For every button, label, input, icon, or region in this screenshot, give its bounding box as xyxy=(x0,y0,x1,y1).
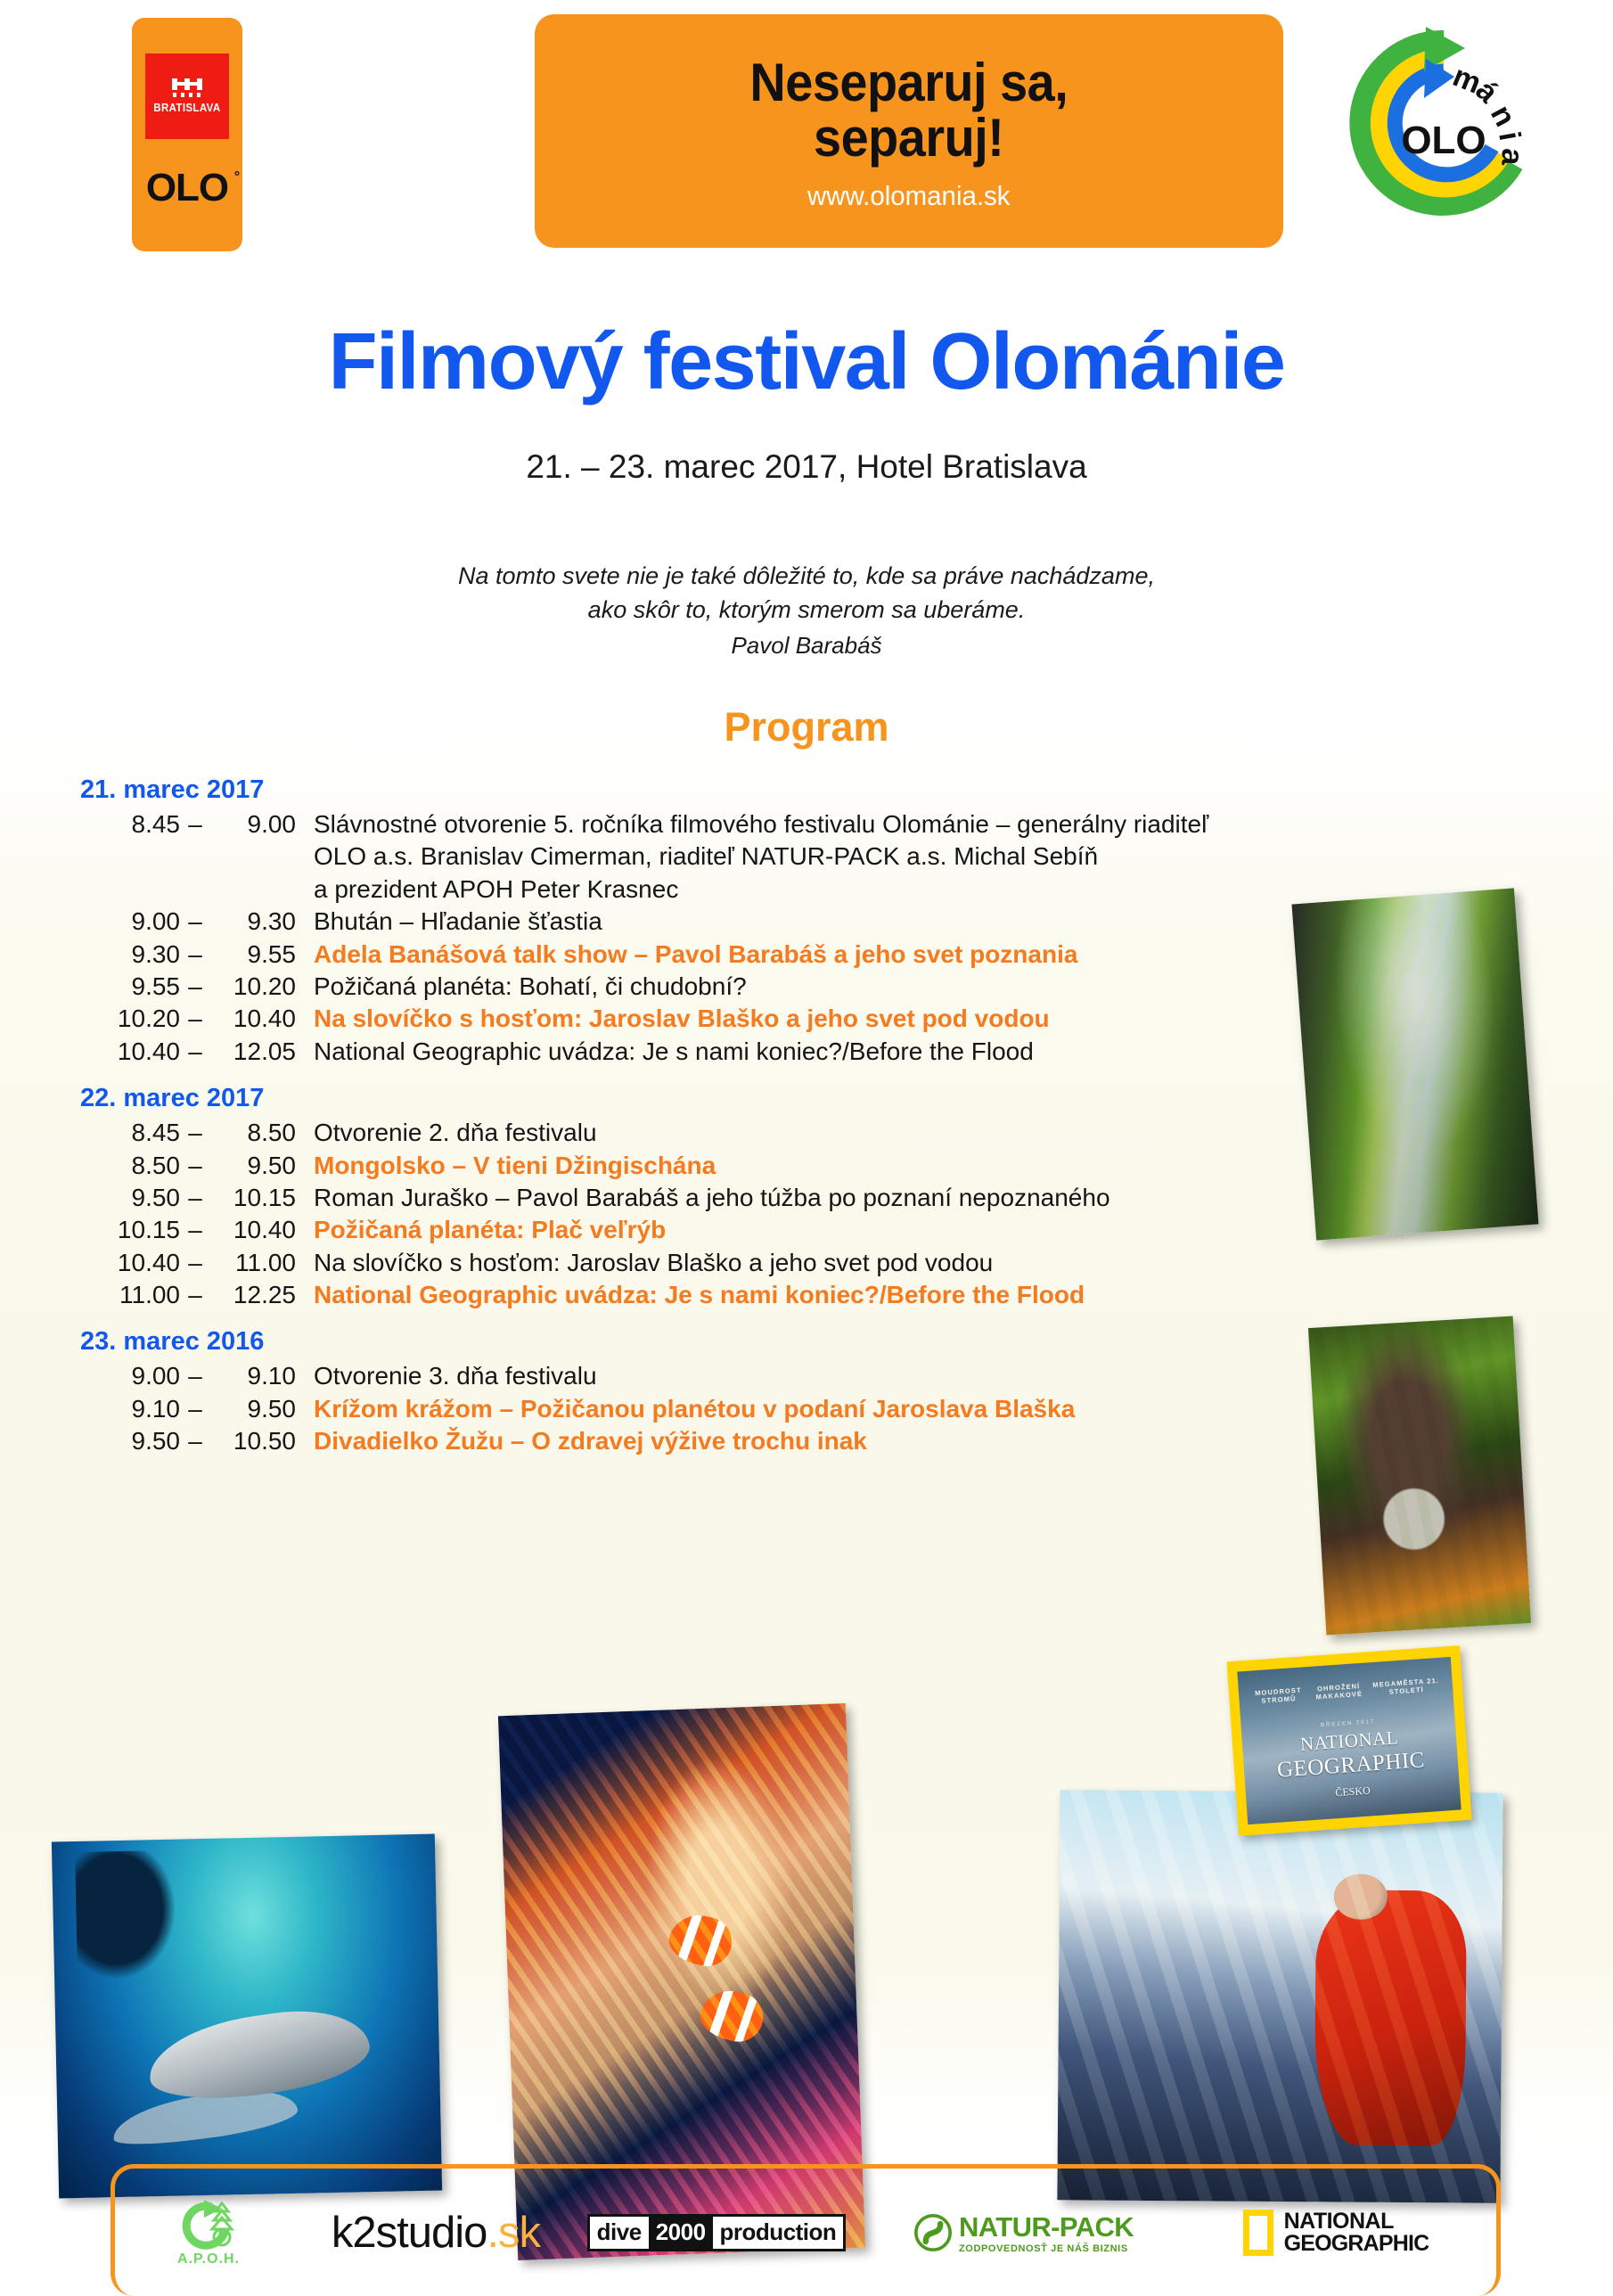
svg-text:n: n xyxy=(1484,100,1522,132)
natgeo-line-1: NATIONAL xyxy=(1284,2210,1429,2233)
entry-start-time: 10.40 xyxy=(80,1247,180,1279)
entry-title: Požičaná planéta: Bohatí, či chudobní? xyxy=(296,971,747,1003)
entry-title: Na slovíčko s hosťom: Jaroslav Blaško a … xyxy=(296,1003,1050,1035)
k2studio-label: k2studio xyxy=(332,2208,487,2258)
slogan-line-1: Neseparuj sa, xyxy=(750,55,1069,111)
entry-title: Bhután – Hľadanie šťastia xyxy=(296,906,602,938)
entry-title: Roman Juraško – Pavol Barabáš a jeho túž… xyxy=(296,1182,1110,1214)
entry-start-time: 10.40 xyxy=(80,1036,180,1068)
tribal-woman-photo xyxy=(1308,1316,1531,1635)
clownfish-icon xyxy=(665,1909,737,1972)
festival-quote: Na tomto svete nie je také dôležité to, … xyxy=(0,559,1613,662)
entry-end-time: 12.25 xyxy=(210,1279,296,1311)
naturpack-logo[interactable]: NATUR-PACK ZODPOVEDNOSŤ JE NÁŠ BIZNIS xyxy=(864,2169,1184,2296)
quote-line-2: ako skôr to, ktorým smerom sa uberáme. xyxy=(0,593,1613,627)
entry-start-time: 11.00 xyxy=(80,1279,180,1311)
entry-end-time: 10.15 xyxy=(210,1182,296,1214)
entry-start-time: 10.15 xyxy=(80,1214,180,1246)
entry-time-dash: – xyxy=(180,906,210,938)
dive2000-part-1: dive xyxy=(590,2217,649,2249)
entry-title-continuation: a prezident APOH Peter Krasnec xyxy=(296,873,678,906)
apoh-recycle-tree-icon xyxy=(179,2198,238,2250)
svg-text:i: i xyxy=(1492,129,1527,143)
entry-title: Adela Banášová talk show – Pavol Barabáš… xyxy=(296,939,1077,971)
quote-line-1: Na tomto svete nie je také dôležité to, … xyxy=(0,559,1613,593)
entry-title: Otvorenie 2. dňa festivalu xyxy=(296,1117,597,1149)
entry-start-time: 8.45 xyxy=(80,808,180,840)
entry-start-time: 9.00 xyxy=(80,906,180,938)
entry-end-time: 10.40 xyxy=(210,1003,296,1035)
entry-title: Na slovíčko s hosťom: Jaroslav Blaško a … xyxy=(296,1247,993,1279)
entry-end-time: 9.30 xyxy=(210,906,296,938)
entry-end-time: 9.55 xyxy=(210,939,296,971)
entry-start-time: 10.20 xyxy=(80,1003,180,1035)
entry-end-time: 9.10 xyxy=(210,1360,296,1392)
entry-time-dash: – xyxy=(180,1393,210,1425)
entry-time-dash: – xyxy=(180,1117,210,1149)
entry-time-dash: – xyxy=(180,971,210,1003)
mountain-climber-photo xyxy=(1057,1790,1502,2202)
clownfish-icon xyxy=(695,1984,767,2046)
magazine-headline-2: OHROŽENÍ MAKAKOVÉ xyxy=(1306,1681,1371,1702)
festival-title: Filmový festival Olománie xyxy=(0,316,1613,408)
naturpack-claim: ZODPOVEDNOSŤ JE NÁŠ BIZNIS xyxy=(959,2243,1134,2254)
entry-time-dash: – xyxy=(180,939,210,971)
k2studio-logo[interactable]: k2studio.sk xyxy=(302,2169,569,2296)
olo-wordmark: OLO° xyxy=(146,166,228,210)
entry-time-dash: – xyxy=(180,1360,210,1392)
entry-end-time: 12.05 xyxy=(210,1036,296,1068)
entry-start-time: 9.55 xyxy=(80,971,180,1003)
dive2000-logo[interactable]: dive 2000 production xyxy=(569,2169,864,2296)
entry-end-time: 9.50 xyxy=(210,1150,296,1182)
entry-title: Krížom krážom – Požičanou planétou v pod… xyxy=(296,1393,1075,1425)
entry-title: Divadielko Žužu – O zdravej výžive troch… xyxy=(296,1425,867,1457)
program-entry-continuation: OLO a.s. Branislav Cimerman, riaditeľ NA… xyxy=(80,840,1560,873)
entry-title: Požičaná planéta: Plač veľrýb xyxy=(296,1214,666,1246)
naturpack-label: NATUR-PACK xyxy=(959,2211,1134,2243)
scuba-diver-silhouette xyxy=(75,1850,177,1980)
dive2000-part-3: production xyxy=(713,2217,844,2249)
national-geographic-logo[interactable]: NATIONAL GEOGRAPHIC xyxy=(1184,2169,1487,2296)
entry-start-time: 8.45 xyxy=(80,1117,180,1149)
dive2000-badge: dive 2000 production xyxy=(587,2214,847,2251)
olo-trademark-mark: ° xyxy=(234,169,239,185)
program-day-date: 21. marec 2017 xyxy=(80,775,1560,805)
national-geographic-magazine-photo: MOUDROST STROMŮ OHROŽENÍ MAKAKOVÉ MEGAMĚ… xyxy=(1226,1645,1471,1836)
naturpack-swirl-icon xyxy=(914,2214,952,2251)
website-url[interactable]: www.olomania.sk xyxy=(807,180,1011,212)
bratislava-city-logo: BRATISLAVA xyxy=(145,53,229,139)
slogan-line-2: separuj! xyxy=(814,111,1003,166)
entry-time-dash: – xyxy=(180,1425,210,1457)
poster-header: BRATISLAVA OLO° Neseparuj sa, separuj! w… xyxy=(0,14,1613,246)
olo-wordmark-text: OLO xyxy=(146,166,228,209)
apoh-logo[interactable]: A.P.O.H. xyxy=(115,2169,302,2296)
entry-time-dash: – xyxy=(180,1214,210,1246)
entry-end-time: 10.20 xyxy=(210,971,296,1003)
bratislava-label: BRATISLAVA xyxy=(153,102,220,114)
entry-time-dash: – xyxy=(180,1150,210,1182)
program-entry: 8.45–9.00Slávnostné otvorenie 5. ročníka… xyxy=(80,808,1560,840)
dive2000-part-2: 2000 xyxy=(649,2217,713,2249)
entry-start-time: 9.30 xyxy=(80,939,180,971)
entry-title: National Geographic uvádza: Je s nami ko… xyxy=(296,1279,1085,1311)
entry-end-time: 10.50 xyxy=(210,1425,296,1457)
olomania-logo: OLO m á n i a xyxy=(1339,21,1543,226)
entry-start-time: 9.50 xyxy=(80,1182,180,1214)
entry-time-dash: – xyxy=(180,1003,210,1035)
bratislava-castle-icon xyxy=(172,78,202,98)
svg-text:a: a xyxy=(1494,148,1529,167)
entry-end-time: 9.00 xyxy=(210,808,296,840)
entry-start-time: 8.50 xyxy=(80,1150,180,1182)
entry-title: National Geographic uvádza: Je s nami ko… xyxy=(296,1036,1034,1068)
quote-author: Pavol Barabáš xyxy=(0,629,1613,662)
entry-time-dash: – xyxy=(180,808,210,840)
entry-time-dash: – xyxy=(180,1247,210,1279)
magazine-cover: MOUDROST STROMŮ OHROŽENÍ MAKAKOVÉ MEGAMĚ… xyxy=(1237,1657,1461,1824)
poster-page: BRATISLAVA OLO° Neseparuj sa, separuj! w… xyxy=(0,0,1613,2282)
entry-start-time: 9.00 xyxy=(80,1360,180,1392)
natgeo-yellow-frame-icon xyxy=(1243,2210,1273,2256)
climber-head xyxy=(1334,1874,1388,1919)
slogan-banner: Neseparuj sa, separuj! www.olomania.sk xyxy=(535,14,1283,248)
natgeo-line-2: GEOGRAPHIC xyxy=(1284,2233,1429,2255)
entry-time-dash: – xyxy=(180,1279,210,1311)
program-entry: 10.40–11.00Na slovíčko s hosťom: Jarosla… xyxy=(80,1247,1560,1279)
entry-start-time: 9.50 xyxy=(80,1425,180,1457)
entry-title: Slávnostné otvorenie 5. ročníka filmovéh… xyxy=(296,808,1208,840)
magazine-cover-lines: MOUDROST STROMŮ OHROŽENÍ MAKAKOVÉ MEGAMĚ… xyxy=(1249,1676,1443,1706)
entry-end-time: 9.50 xyxy=(210,1393,296,1425)
k2studio-tld: .sk xyxy=(487,2208,540,2258)
entry-title-continuation: OLO a.s. Branislav Cimerman, riaditeľ NA… xyxy=(296,840,1098,873)
entry-time-dash: – xyxy=(180,1182,210,1214)
entry-end-time: 8.50 xyxy=(210,1117,296,1149)
magazine-headline-3: MEGAMĚSTA 21. STOLETÍ xyxy=(1370,1676,1442,1697)
waterfall-canyoning-photo xyxy=(1291,888,1538,1240)
entry-title: Otvorenie 3. dňa festivalu xyxy=(296,1360,597,1392)
entry-end-time: 10.40 xyxy=(210,1214,296,1246)
olo-brand-badge: BRATISLAVA OLO° xyxy=(132,18,242,251)
entry-start-time: 9.10 xyxy=(80,1393,180,1425)
entry-time-dash: – xyxy=(180,1036,210,1068)
entry-end-time: 11.00 xyxy=(210,1247,296,1279)
shark-diver-photo xyxy=(52,1834,442,2199)
festival-date-venue: 21. – 23. marec 2017, Hotel Bratislava xyxy=(0,448,1613,486)
entry-title: Mongolsko – V tieni Džingischána xyxy=(296,1150,716,1182)
svg-text:OLO: OLO xyxy=(1401,119,1486,162)
program-entry: 11.00–12.25National Geographic uvádza: J… xyxy=(80,1279,1560,1311)
sponsor-footer: A.P.O.H. k2studio.sk dive 2000 productio… xyxy=(111,2164,1501,2296)
climber-red-jacket xyxy=(1314,1890,1467,2145)
program-heading: Program xyxy=(0,704,1613,750)
apoh-label: A.P.O.H. xyxy=(177,2251,240,2267)
magazine-headline-1: MOUDROST STROMŮ xyxy=(1249,1685,1308,1706)
